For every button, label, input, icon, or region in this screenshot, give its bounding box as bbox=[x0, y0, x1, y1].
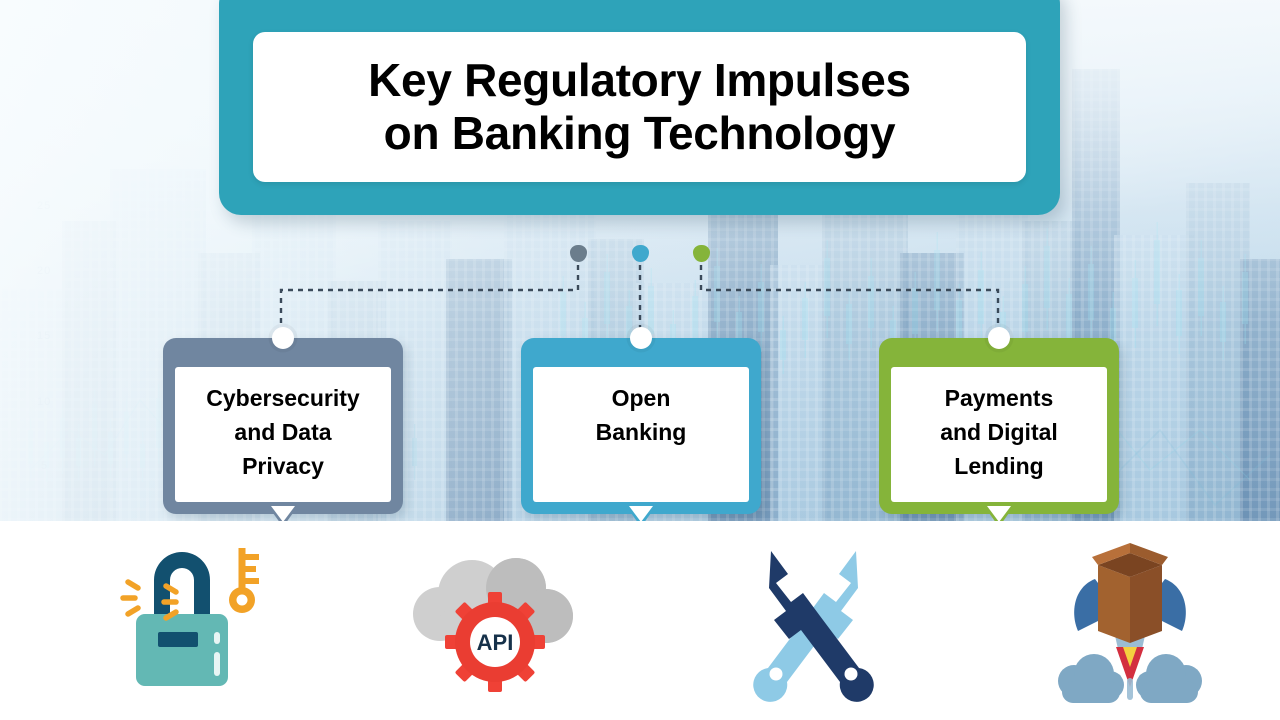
card-label-line: Privacy bbox=[242, 453, 324, 479]
infographic-canvas: 25 20 15 10 5 Key Regulatory Impulses on… bbox=[0, 0, 1280, 720]
card-label-line: Banking bbox=[596, 419, 687, 445]
card-label-line: Payments bbox=[945, 385, 1054, 411]
icon-slot-wrenches[interactable] bbox=[720, 521, 920, 720]
card-pin-payments bbox=[988, 327, 1010, 349]
icon-slot-rocket[interactable] bbox=[1030, 521, 1230, 720]
card-label-payments: Payments and Digital Lending bbox=[940, 381, 1058, 483]
card-label-line: Lending bbox=[954, 453, 1043, 479]
card-label-line: Open bbox=[612, 385, 671, 411]
title-line-2: on Banking Technology bbox=[368, 107, 911, 160]
page-title: Key Regulatory Impulses on Banking Techn… bbox=[358, 54, 921, 161]
icon-slot-padlock[interactable] bbox=[90, 521, 290, 720]
icon-slot-api-cloud[interactable]: API bbox=[395, 521, 595, 720]
title-panel: Key Regulatory Impulses on Banking Techn… bbox=[253, 32, 1026, 182]
padlock-key-icon bbox=[110, 536, 270, 706]
card-payments-and-digital-lending[interactable]: Payments and Digital Lending bbox=[879, 338, 1119, 514]
card-panel-open-banking: Open Banking bbox=[533, 367, 749, 502]
card-label-cybersecurity: Cybersecurity and Data Privacy bbox=[206, 381, 359, 483]
package-rocket-icon bbox=[1040, 531, 1220, 711]
api-cloud-gear-icon: API bbox=[410, 546, 580, 696]
card-panel-cybersecurity: Cybersecurity and Data Privacy bbox=[175, 367, 391, 502]
card-label-line: and Digital bbox=[940, 419, 1058, 445]
card-label-line: Cybersecurity bbox=[206, 385, 359, 411]
crossed-wrenches-icon bbox=[735, 538, 905, 703]
card-label-open-banking: Open Banking bbox=[596, 381, 687, 449]
card-panel-payments: Payments and Digital Lending bbox=[891, 367, 1107, 502]
card-cybersecurity-and-data-privacy[interactable]: Cybersecurity and Data Privacy bbox=[163, 338, 403, 514]
card-open-banking[interactable]: Open Banking bbox=[521, 338, 761, 514]
card-pin-open-banking bbox=[630, 327, 652, 349]
card-label-line: and Data bbox=[234, 419, 331, 445]
card-pin-cybersecurity bbox=[272, 327, 294, 349]
icon-band: API bbox=[0, 521, 1280, 720]
api-gear-label: API bbox=[477, 630, 514, 655]
title-banner: Key Regulatory Impulses on Banking Techn… bbox=[219, 0, 1060, 215]
title-line-1: Key Regulatory Impulses bbox=[368, 54, 911, 107]
